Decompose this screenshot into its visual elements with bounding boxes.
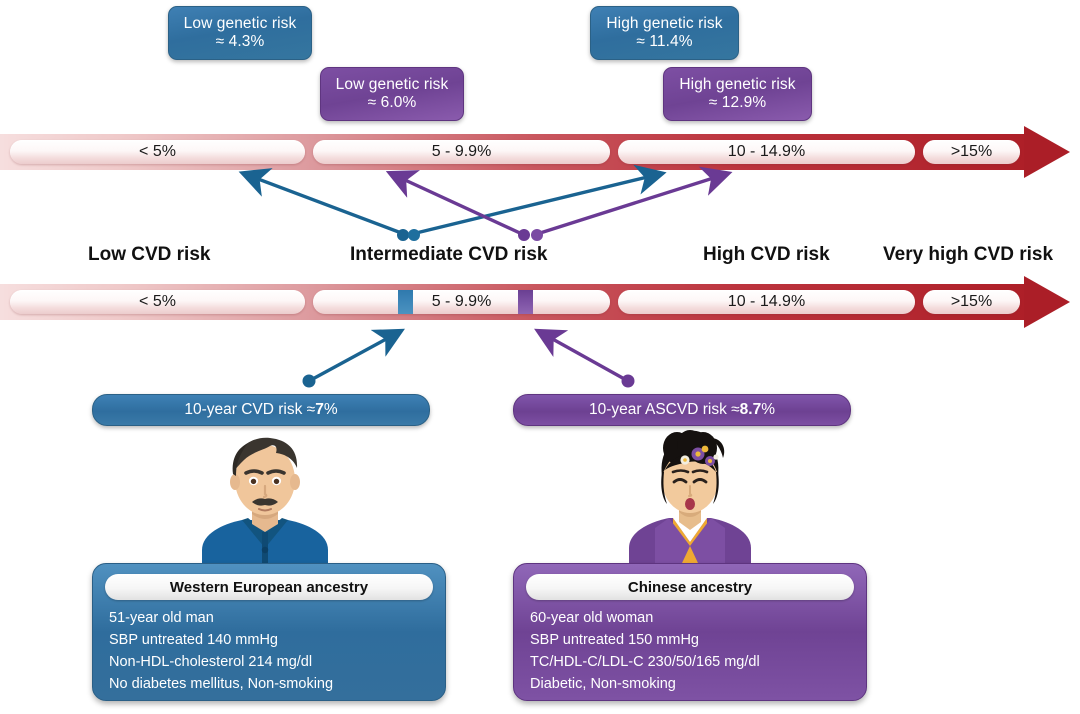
risk-segment-label: 10 - 14.9%: [728, 143, 805, 161]
score-suffix: %: [324, 401, 338, 419]
patient-detail-line: No diabetes mellitus, Non-smoking: [105, 673, 433, 695]
risk-segment-label: 5 - 9.9%: [432, 143, 492, 161]
anchor-dot-blue-low: [397, 229, 409, 241]
avatar-western-european-man: [190, 428, 340, 578]
patient-detail-line: 60-year old woman: [526, 607, 854, 629]
callout-low-genetic-blue: Low genetic risk ≈ 4.3%: [168, 6, 312, 60]
patient-card-chinese: Chinese ancestry 60-year old woman SBP u…: [513, 563, 867, 701]
score-suffix: %: [761, 401, 775, 419]
callout-label: Low genetic risk: [184, 15, 297, 33]
risk-segment-very-high: >15%: [923, 290, 1020, 314]
patient-card-western-european: Western European ancestry 51-year old ma…: [92, 563, 446, 701]
connector-arrows-top: [0, 160, 1080, 250]
avatar-chinese-woman: [615, 424, 765, 578]
risk-segment-intermediate: 5 - 9.9%: [313, 290, 610, 314]
marker-cvd-risk: [398, 290, 413, 314]
score-value: 8.7: [740, 401, 762, 419]
category-label-very-high: Very high CVD risk: [883, 244, 1053, 266]
callout-low-genetic-purple: Low genetic risk ≈ 6.0%: [320, 67, 464, 121]
score-pill-cvd: 10-year CVD risk ≈ 7%: [92, 394, 430, 426]
risk-segment-label: >15%: [951, 143, 992, 161]
anchor-dot-purple-low: [518, 229, 530, 241]
category-label-low: Low CVD risk: [88, 244, 210, 266]
risk-segment-label: >15%: [951, 293, 992, 311]
patient-detail-line: SBP untreated 140 mmHg: [105, 629, 433, 651]
risk-segment-label: 10 - 14.9%: [728, 293, 805, 311]
callout-label: High genetic risk: [679, 76, 795, 94]
infographic-canvas: Low genetic risk ≈ 4.3% Low genetic risk…: [0, 0, 1080, 714]
risk-segment-low: < 5%: [10, 290, 305, 314]
patient-detail-line: SBP untreated 150 mmHg: [526, 629, 854, 651]
callout-label: High genetic risk: [606, 15, 722, 33]
callout-high-genetic-blue: High genetic risk ≈ 11.4%: [590, 6, 739, 60]
risk-segment-label: < 5%: [139, 143, 176, 161]
patient-card-title: Western European ancestry: [105, 574, 433, 600]
callout-value: ≈ 4.3%: [216, 33, 265, 51]
score-value: 7: [315, 401, 324, 419]
risk-segment-high: 10 - 14.9%: [618, 290, 915, 314]
marker-ascvd-risk: [518, 290, 533, 314]
anchor-dot-purple-high: [531, 229, 543, 241]
category-label-intermediate: Intermediate CVD risk: [350, 244, 547, 266]
score-text: 10-year CVD risk ≈: [184, 401, 315, 419]
score-text: 10-year ASCVD risk ≈: [589, 401, 740, 419]
anchor-dot-ascvd: [622, 375, 635, 388]
anchor-dot-blue-high: [408, 229, 420, 241]
callout-value: ≈ 6.0%: [368, 94, 417, 112]
category-label-high: High CVD risk: [703, 244, 830, 266]
callout-label: Low genetic risk: [336, 76, 449, 94]
risk-segment-label: 5 - 9.9%: [432, 293, 492, 311]
callout-high-genetic-purple: High genetic risk ≈ 12.9%: [663, 67, 812, 121]
risk-segment-label: < 5%: [139, 293, 176, 311]
anchor-dot-cvd: [303, 375, 316, 388]
patient-detail-line: Diabetic, Non-smoking: [526, 673, 854, 695]
patient-detail-line: Non-HDL-cholesterol 214 mg/dl: [105, 651, 433, 673]
callout-value: ≈ 12.9%: [709, 94, 766, 112]
patient-detail-line: 51-year old man: [105, 607, 433, 629]
score-pill-ascvd: 10-year ASCVD risk ≈ 8.7%: [513, 394, 851, 426]
callout-value: ≈ 11.4%: [636, 33, 692, 51]
connector-arrows-bottom: [0, 318, 1080, 398]
patient-card-title: Chinese ancestry: [526, 574, 854, 600]
patient-detail-line: TC/HDL-C/LDL-C 230/50/165 mg/dl: [526, 651, 854, 673]
